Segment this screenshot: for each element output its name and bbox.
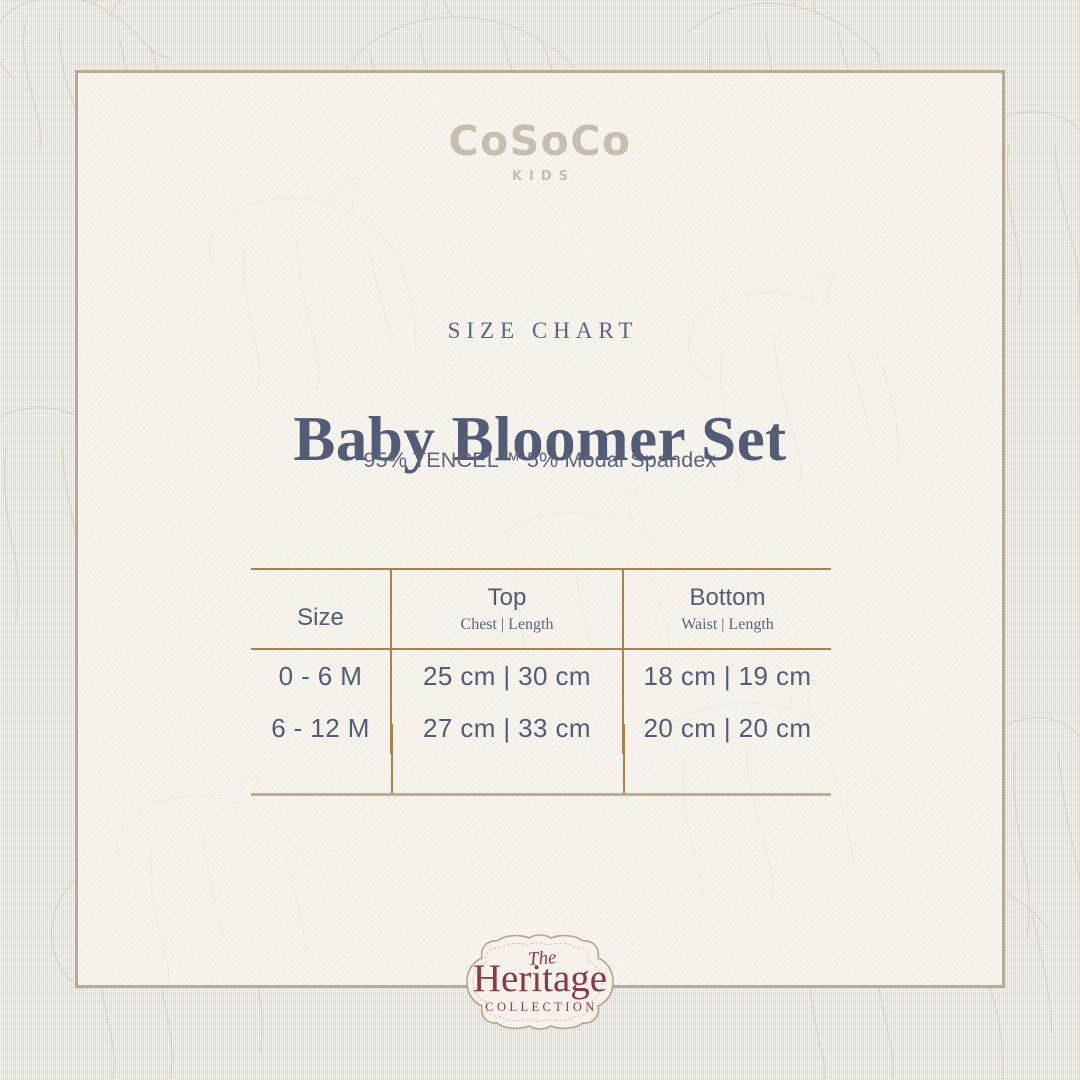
cell-bottom: 18 cm | 19 cm: [623, 649, 831, 702]
size-table: Size Top Chest | Length Bottom Waist | L…: [251, 568, 831, 754]
badge-subtitle: COLLECTION: [482, 1000, 597, 1015]
column-header-bottom-sub: Waist | Length: [624, 615, 831, 634]
table-header-row: Size Top Chest | Length Bottom Waist | L…: [251, 569, 831, 649]
cell-size: 6 - 12 M: [251, 702, 391, 754]
column-header-top-sub: Chest | Length: [392, 615, 622, 634]
brand-wordmark: CoSoCo: [78, 121, 1002, 162]
badge-script-the: The: [527, 948, 557, 969]
size-table-head: Size Top Chest | Length Bottom Waist | L…: [251, 569, 831, 649]
table-divider-extension-right: [623, 724, 625, 796]
poster-frame: CoSoCo KIDS SIZE CHART Baby Bloomer Set …: [75, 70, 1005, 988]
fabric-composition: 95% TENCEL™ 5% Modal Spandex: [78, 448, 1002, 473]
brand-sub-wordmark: KIDS: [78, 169, 1002, 184]
eyebrow-label: SIZE CHART: [78, 318, 1002, 344]
column-header-bottom: Bottom Waist | Length: [623, 569, 831, 649]
poster-canvas: CoSoCo KIDS SIZE CHART Baby Bloomer Set …: [0, 0, 1080, 1080]
horse-watermark-left-lower: [108, 763, 328, 988]
cell-size: 0 - 6 M: [251, 649, 391, 702]
cell-top: 27 cm | 33 cm: [391, 702, 623, 754]
column-header-size-label: Size: [251, 586, 390, 632]
heritage-collection-badge: The Heritage COLLECTION: [449, 932, 631, 1032]
brand-logo: CoSoCo KIDS: [78, 121, 1002, 184]
column-header-top: Top Chest | Length: [391, 569, 623, 649]
horse-watermark-left: [196, 163, 426, 393]
badge-text-group: The Heritage COLLECTION: [449, 932, 631, 1032]
cell-top: 25 cm | 30 cm: [391, 649, 623, 702]
table-row: 0 - 6 M 25 cm | 30 cm 18 cm | 19 cm: [251, 649, 831, 702]
size-table-container: Size Top Chest | Length Bottom Waist | L…: [251, 568, 831, 754]
table-row: 6 - 12 M 27 cm | 33 cm 20 cm | 20 cm: [251, 702, 831, 754]
cell-bottom: 20 cm | 20 cm: [623, 702, 831, 754]
table-divider-extension-left: [391, 724, 393, 796]
horse-sketch-right-lower: [995, 700, 1080, 950]
table-bottom-rule: [251, 793, 831, 796]
column-header-top-label: Top: [392, 584, 622, 612]
column-header-size: Size: [251, 569, 391, 649]
size-table-body: 0 - 6 M 25 cm | 30 cm 18 cm | 19 cm 6 - …: [251, 649, 831, 754]
column-header-bottom-label: Bottom: [624, 584, 831, 612]
